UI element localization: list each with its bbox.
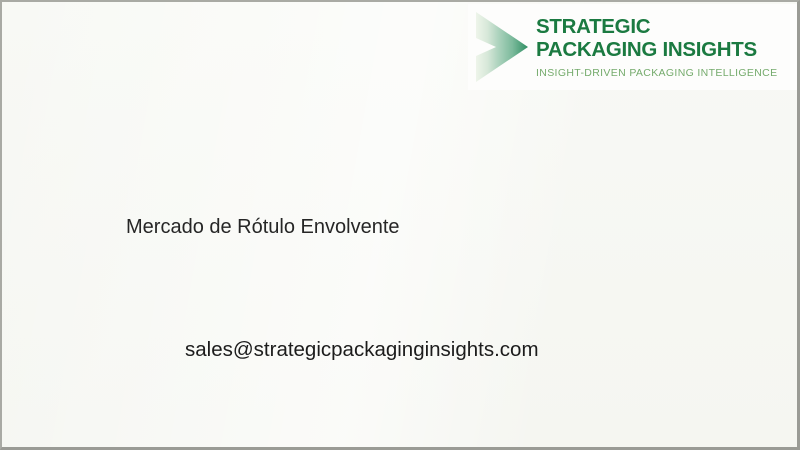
logo-wordmark: STRATEGIC PACKAGING INSIGHTS INSIGHT-DRI…: [536, 15, 777, 79]
report-title: Mercado de Rótulo Envolvente: [126, 216, 400, 239]
logo-line-2: PACKAGING INSIGHTS: [536, 40, 777, 61]
logo-lockup[interactable]: STRATEGIC PACKAGING INSIGHTS INSIGHT-DRI…: [468, 4, 799, 90]
chevron-right-icon: [470, 8, 532, 86]
presentation-slide: STRATEGIC PACKAGING INSIGHTS INSIGHT-DRI…: [0, 0, 800, 450]
stripe-band-upper: [2, 2, 302, 234]
stripe-group-upper: [2, 2, 302, 234]
logo-line-1: STRATEGIC: [536, 17, 777, 38]
contact-email[interactable]: sales@strategicpackaginginsights.com: [185, 338, 539, 362]
logo-tagline: INSIGHT-DRIVEN PACKAGING INTELLIGENCE: [536, 67, 777, 79]
